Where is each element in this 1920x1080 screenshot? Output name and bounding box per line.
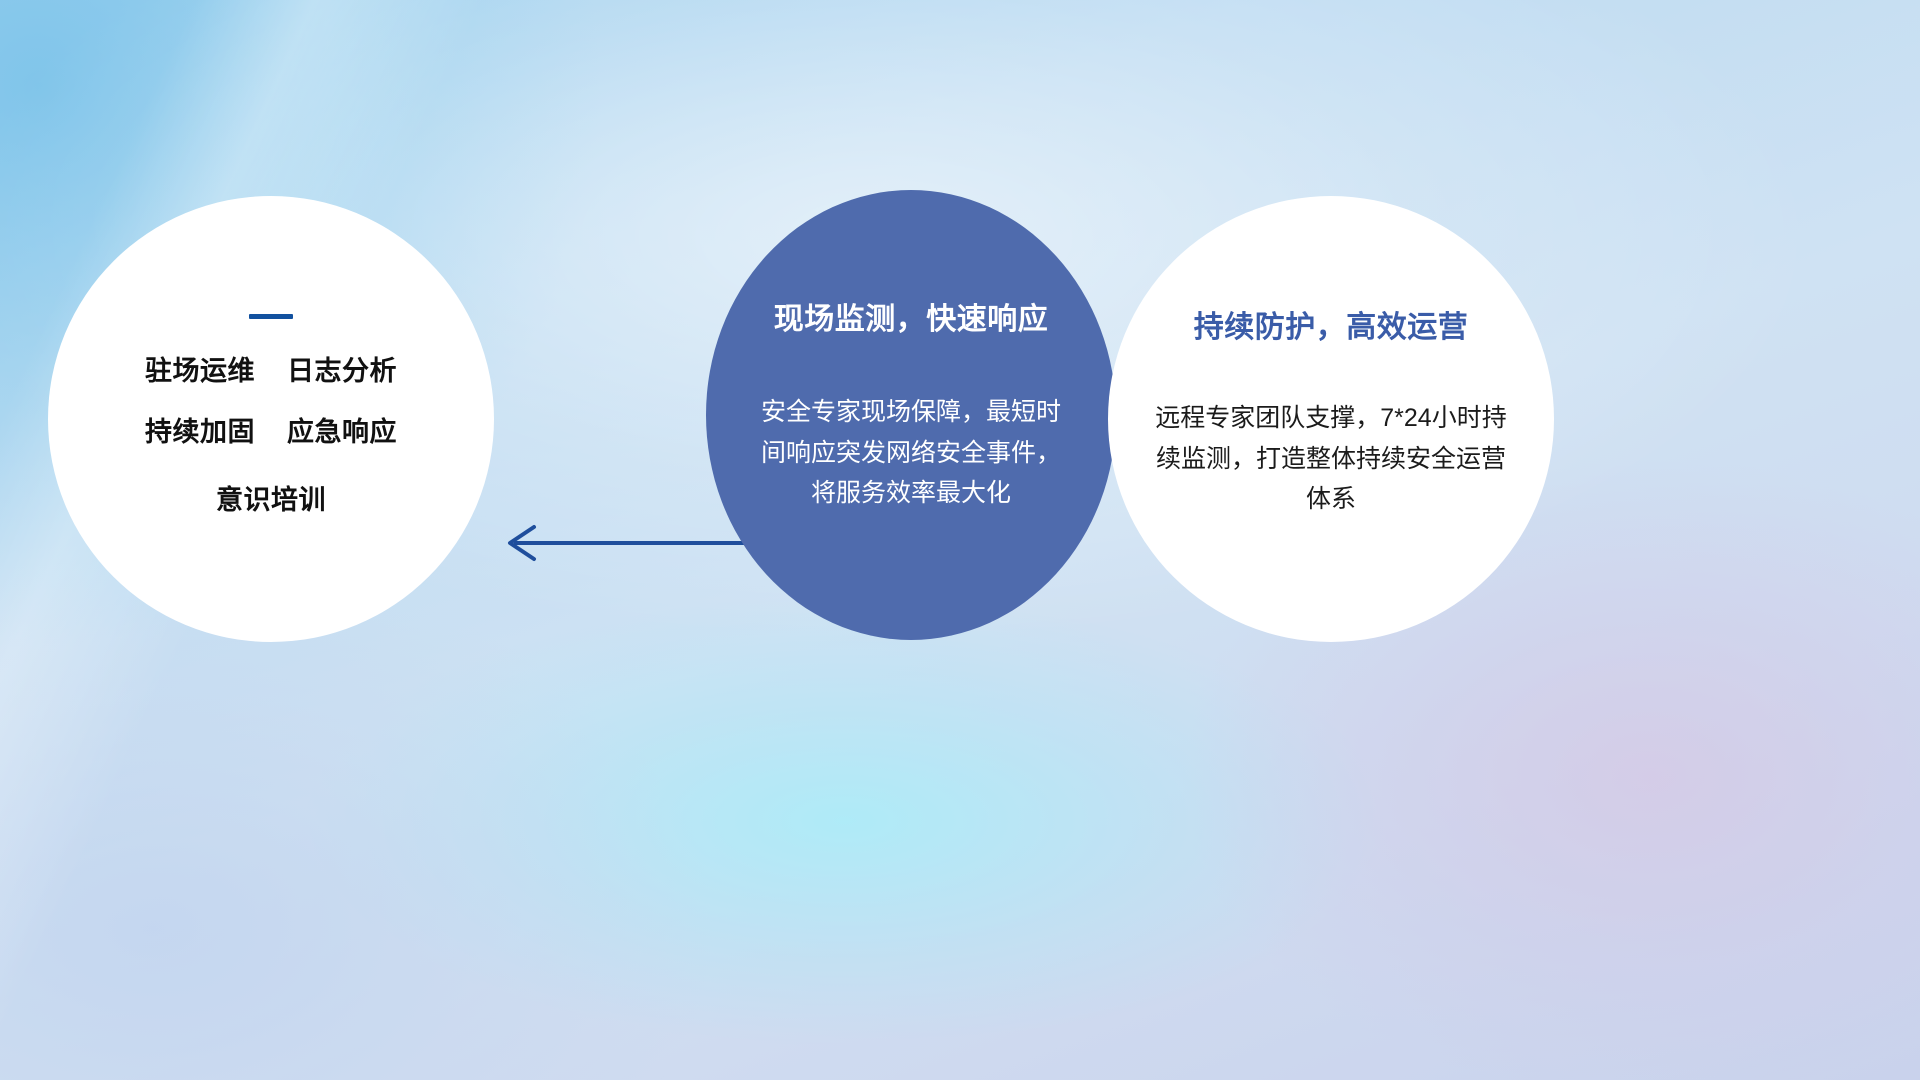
left-circle-content: 驻场运维 日志分析 持续加固 应急响应 意识培训 xyxy=(48,196,494,516)
right-white-circle[interactable]: 持续防护，高效运营 远程专家团队支撑，7*24小时持续监测，打造整体持续安全运营… xyxy=(1108,196,1554,642)
dash-separator-icon xyxy=(249,314,293,319)
keyword-row: 持续加固 应急响应 xyxy=(145,418,397,448)
keyword-item: 日志分析 xyxy=(287,357,397,387)
middle-blue-circle[interactable]: 现场监测，快速响应 安全专家现场保障，最短时间响应突发网络安全事件，将服务效率最… xyxy=(706,190,1116,640)
keyword-item: 驻场运维 xyxy=(145,357,255,387)
slide-canvas: 驻场运维 日志分析 持续加固 应急响应 意识培训 现场监测，快速响应 安全专家现… xyxy=(0,0,1920,1080)
keyword-item: 应急响应 xyxy=(287,418,397,448)
middle-circle-title: 现场监测，快速响应 xyxy=(774,294,1049,338)
right-circle-title: 持续防护，高效运营 xyxy=(1194,302,1469,346)
keyword-item: 持续加固 xyxy=(145,418,255,448)
keyword-row: 驻场运维 日志分析 xyxy=(145,357,397,387)
left-capability-circle[interactable]: 驻场运维 日志分析 持续加固 应急响应 意识培训 xyxy=(48,196,494,642)
right-circle-body: 远程专家团队支撑，7*24小时持续监测，打造整体持续安全运营体系 xyxy=(1155,398,1507,520)
keyword-row: 意识培训 xyxy=(216,486,326,516)
keyword-item: 意识培训 xyxy=(216,486,326,516)
middle-circle-body: 安全专家现场保障，最短时间响应突发网络安全事件，将服务效率最大化 xyxy=(758,392,1064,514)
